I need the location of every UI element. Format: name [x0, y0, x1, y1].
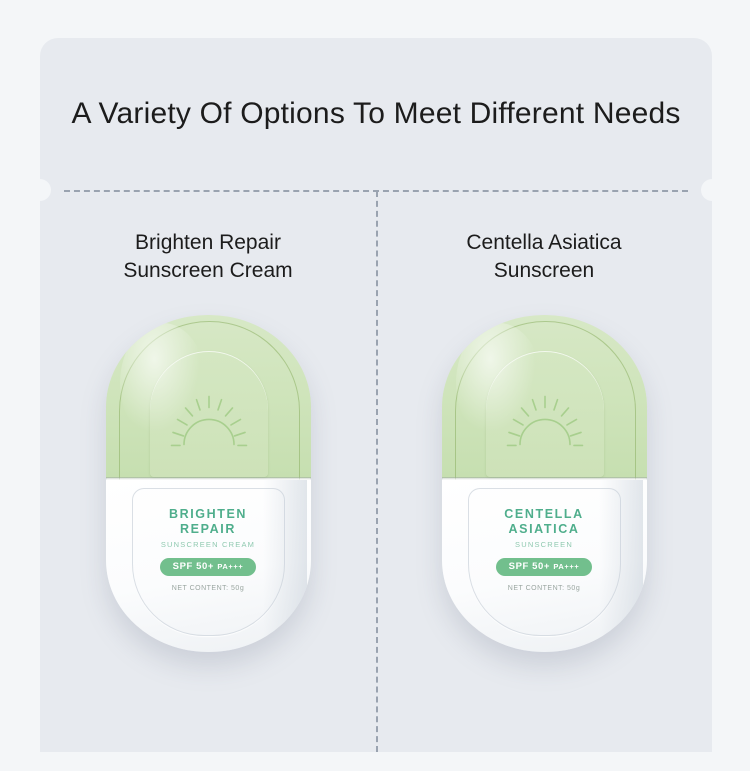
spf-badge: SPF 50+ PA+++ [160, 558, 257, 576]
pa-value: PA+++ [217, 562, 243, 571]
label-brand-line2: REPAIR [106, 522, 311, 537]
label-subtitle: SUNSCREEN [442, 540, 647, 549]
product-title-line1: Brighten Repair [123, 229, 292, 257]
sunrise-icon [502, 390, 588, 452]
cap-arch-panel [150, 351, 268, 477]
page-title: A Variety Of Options To Meet Different N… [40, 38, 712, 190]
spf-value: SPF 50+ [173, 561, 214, 572]
net-content: NET CONTENT: 50g [442, 585, 647, 592]
bottle-label: BRIGHTEN REPAIR SUNSCREEN CREAM SPF 50+ … [106, 507, 311, 592]
promo-card: A Variety Of Options To Meet Different N… [40, 38, 712, 752]
product-card-centella-asiatica[interactable]: Centella Asiatica Sunscreen [376, 191, 712, 752]
pa-value: PA+++ [553, 562, 579, 571]
product-title-line2: Sunscreen Cream [123, 257, 292, 285]
product-title-line1: Centella Asiatica [466, 229, 621, 257]
sunrise-icon [166, 390, 252, 452]
net-content: NET CONTENT: 50g [106, 585, 311, 592]
product-columns: Brighten Repair Sunscreen Cream [40, 191, 712, 752]
page-title-text: A Variety Of Options To Meet Different N… [71, 97, 680, 131]
spf-value: SPF 50+ [509, 561, 550, 572]
bottle-cap [106, 315, 311, 478]
product-image: BRIGHTEN REPAIR SUNSCREEN CREAM SPF 50+ … [106, 315, 311, 655]
product-title-line2: Sunscreen [466, 257, 621, 285]
label-brand-line1: BRIGHTEN [106, 507, 311, 522]
label-subtitle: SUNSCREEN CREAM [106, 540, 311, 549]
label-brand-line2: ASIATICA [442, 522, 647, 537]
cap-arch-panel [486, 351, 604, 477]
product-card-brighten-repair[interactable]: Brighten Repair Sunscreen Cream [40, 191, 376, 752]
bottle-label: CENTELLA ASIATICA SUNSCREEN SPF 50+ PA++… [442, 507, 647, 592]
product-image: CENTELLA ASIATICA SUNSCREEN SPF 50+ PA++… [442, 315, 647, 655]
bottle-cap [442, 315, 647, 478]
sunscreen-bottle: BRIGHTEN REPAIR SUNSCREEN CREAM SPF 50+ … [106, 315, 311, 652]
sunscreen-bottle: CENTELLA ASIATICA SUNSCREEN SPF 50+ PA++… [442, 315, 647, 652]
product-title: Centella Asiatica Sunscreen [466, 229, 621, 285]
label-brand-line1: CENTELLA [442, 507, 647, 522]
product-title: Brighten Repair Sunscreen Cream [123, 229, 292, 285]
spf-badge: SPF 50+ PA+++ [496, 558, 593, 576]
